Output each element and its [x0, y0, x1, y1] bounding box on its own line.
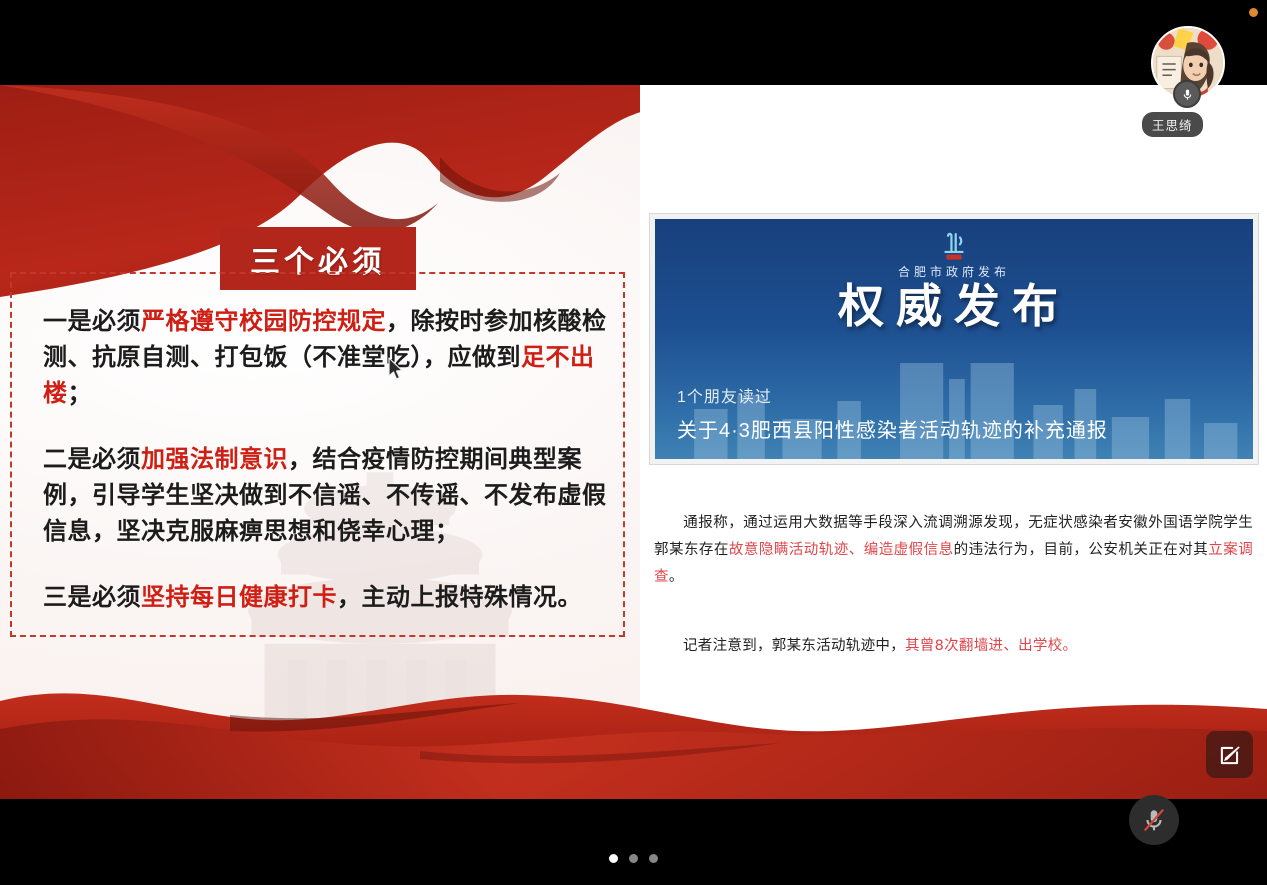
read-count-label: 1个朋友读过 — [677, 383, 772, 407]
body-text-run: 一是必须 — [43, 306, 141, 335]
wechat-article-card[interactable]: 合肥市政府发布 权威发布 1个朋友读过 关于4·3肥西县阳性感染者活动轨迹的补充… — [649, 213, 1259, 465]
highlighted-text: 坚持每日健康打卡 — [141, 582, 337, 611]
body-text-run: ； — [68, 378, 93, 407]
page-dot[interactable] — [609, 854, 618, 863]
red-silk-ribbon-bottom — [0, 659, 1267, 799]
highlighted-text: 严格遵守校园防控规定 — [141, 306, 386, 335]
article-cover-image: 合肥市政府发布 权威发布 1个朋友读过 关于4·3肥西县阳性感染者活动轨迹的补充… — [655, 219, 1253, 459]
slide-right-column: 合肥市政府发布 权威发布 1个朋友读过 关于4·3肥西县阳性感染者活动轨迹的补充… — [640, 85, 1267, 745]
rule-item: 二是必须加强法制意识，结合疫情防控期间典型案例，引导学生坚决做到不信谣、不传谣、… — [43, 441, 608, 549]
rules-list: 一是必须严格遵守校园防控规定，除按时参加核酸检测、抗原自测、打包饭（不准堂吃），… — [43, 303, 608, 615]
highlighted-text: 故意隐瞒活动轨迹、编造虚假信息 — [729, 542, 954, 558]
page-dot[interactable] — [649, 854, 658, 863]
microphone-on-icon — [1173, 80, 1201, 108]
article-headline: 权威发布 — [655, 281, 1253, 332]
page-dot[interactable] — [629, 854, 638, 863]
body-text-run: 三是必须 — [43, 582, 141, 611]
mouse-cursor-icon — [388, 357, 405, 381]
body-text-run: 记者注意到，郭某东活动轨迹中， — [683, 638, 905, 654]
annotate-tool-button[interactable] — [1206, 731, 1253, 778]
shared-slide-stage[interactable]: 三个必须 一是必须严格遵守校园防控规定，除按时参加核酸检测、抗原自测、打包饭（不… — [0, 85, 1267, 799]
rule-item: 三是必须坚持每日健康打卡，主动上报特殊情况。 — [43, 579, 608, 615]
publisher-name: 合肥市政府发布 — [655, 263, 1253, 280]
highlighted-text: 加强法制意识 — [141, 444, 288, 473]
body-text-run: 。 — [669, 569, 684, 585]
participant-tile[interactable]: 王思绮 — [1148, 26, 1242, 136]
article-paragraph: 通报称，通过运用大数据等手段深入流调溯源发现，无症状感染者安徽外国语学院学生郭某… — [654, 510, 1253, 590]
government-emblem-icon — [937, 229, 971, 263]
body-text-run: 的违法行为，目前，公安机关正在对其 — [954, 542, 1209, 558]
body-text-run: ，主动上报特殊情况。 — [337, 582, 582, 611]
article-subtitle: 关于4·3肥西县阳性感染者活动轨迹的补充通报 — [677, 414, 1237, 443]
recording-status-dot — [1249, 8, 1258, 17]
article-paragraph: 记者注意到，郭某东活动轨迹中，其曾8次翻墙进、出学校。 — [654, 633, 1253, 660]
rule-item: 一是必须严格遵守校园防控规定，除按时参加核酸检测、抗原自测、打包饭（不准堂吃），… — [43, 303, 608, 411]
participant-name-label: 王思绮 — [1142, 112, 1203, 137]
body-text-run: 二是必须 — [43, 444, 141, 473]
highlighted-text: 其曾8次翻墙进、出学校。 — [905, 638, 1077, 654]
microphone-mute-button[interactable] — [1129, 795, 1179, 845]
page-indicator-dots[interactable] — [0, 854, 1267, 863]
meeting-screen-share-view: 三个必须 一是必须严格遵守校园防控规定，除按时参加核酸检测、抗原自测、打包饭（不… — [0, 0, 1267, 885]
